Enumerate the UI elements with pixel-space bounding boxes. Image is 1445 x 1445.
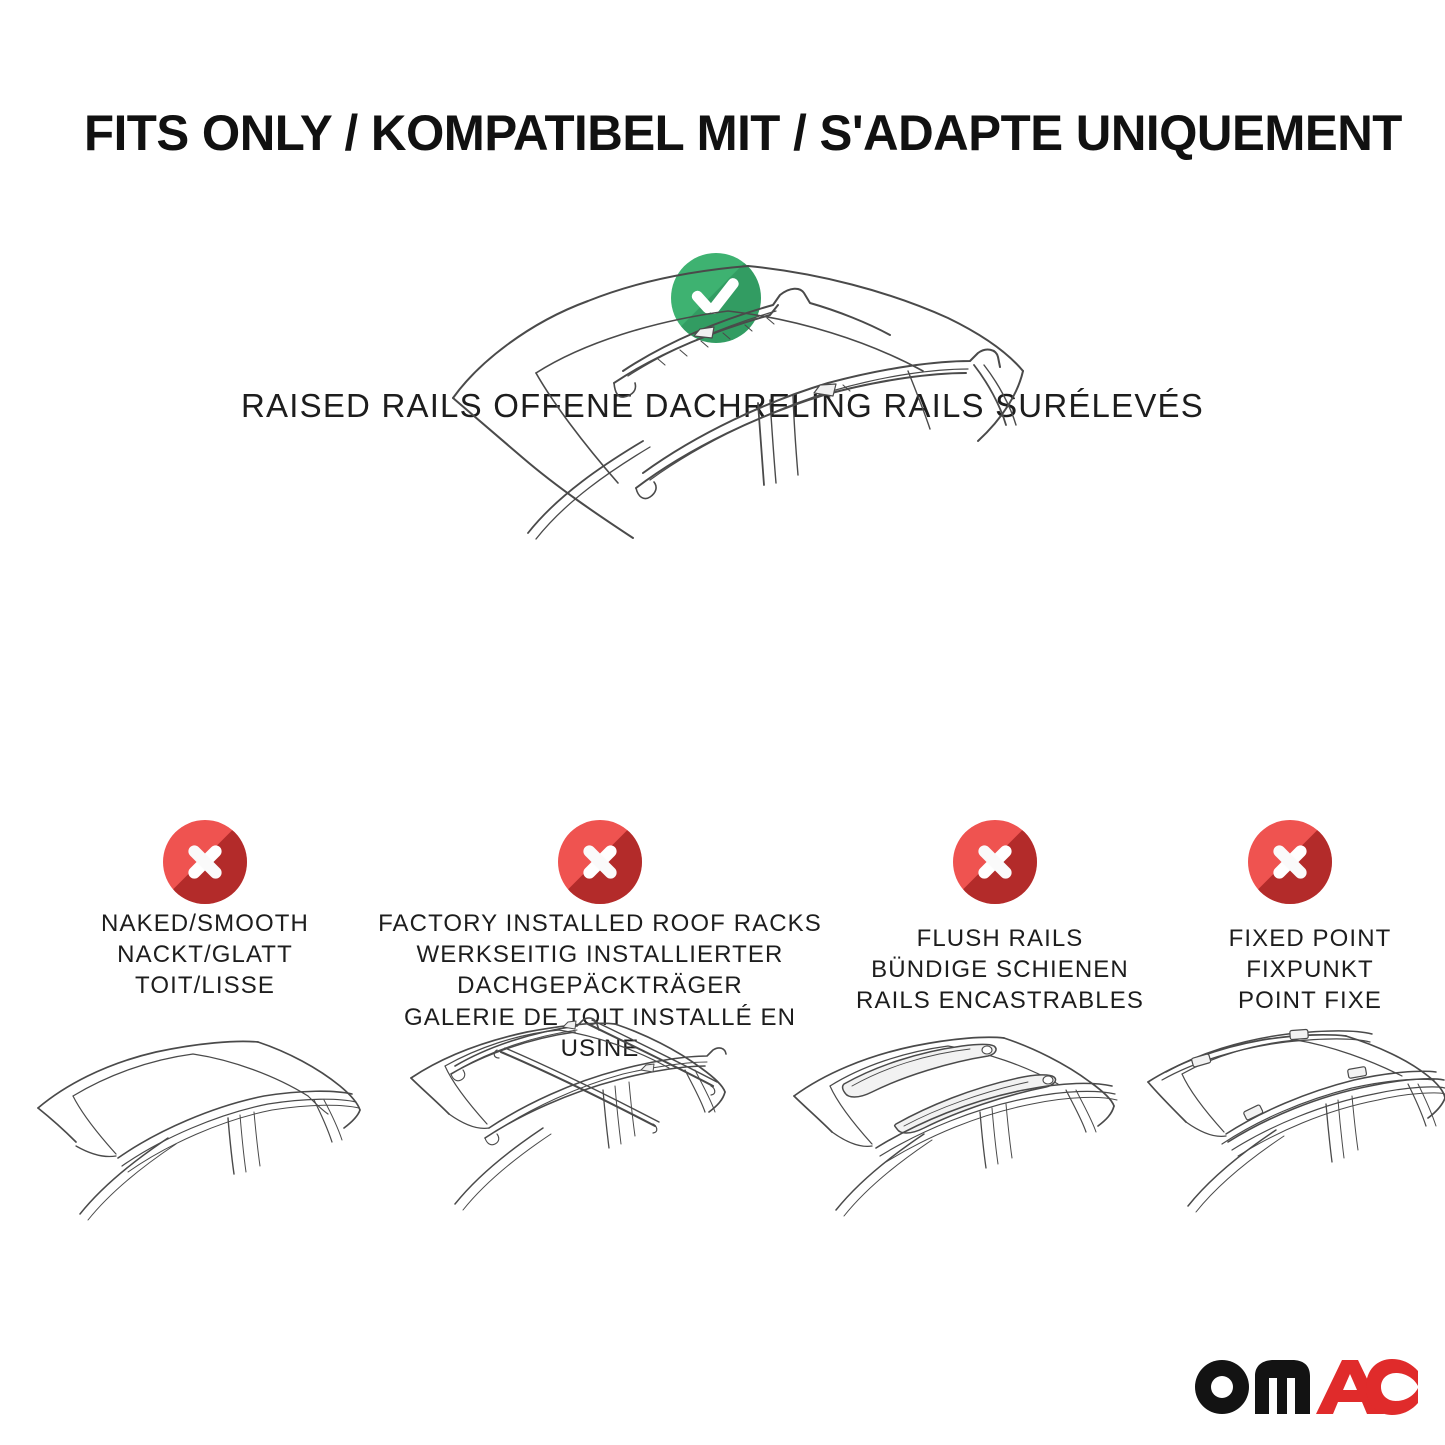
- car-roof-with-raised-rails-illustration: [418, 243, 1048, 543]
- incompatible-label-flush-rails: FLUSH RAILS BÜNDIGE SCHIENEN RAILS ENCAS…: [830, 923, 1170, 1017]
- x-glyph: [578, 840, 622, 884]
- incompatible-label-fixed-point: FIXED POINT FIXPUNKT POINT FIXE: [1160, 923, 1445, 1017]
- incompatible-label-naked-smooth: NAKED/SMOOTH NACKT/GLATT TOIT/LISSE: [30, 908, 380, 1002]
- car-roof-fixed-point-illustration: [1140, 1018, 1445, 1238]
- x-circle-icon-flush-rails: [953, 820, 1037, 904]
- x-circle-icon-naked-smooth: [163, 820, 247, 904]
- omac-logo: [1192, 1352, 1418, 1418]
- car-roof-flush-rails-illustration: [772, 1018, 1132, 1238]
- logo-letter-c: [1366, 1359, 1418, 1415]
- x-glyph: [1268, 840, 1312, 884]
- x-glyph: [973, 840, 1017, 884]
- x-circle-icon-factory-roof-racks: [558, 820, 642, 904]
- car-roof-factory-roof-racks-illustration: [393, 1008, 753, 1240]
- page-title: FITS ONLY / KOMPATIBEL MIT / S'ADAPTE UN…: [84, 104, 1365, 162]
- x-glyph: [183, 840, 227, 884]
- car-roof-naked-smooth-illustration: [18, 1018, 368, 1238]
- x-circle-icon-fixed-point: [1248, 820, 1332, 904]
- logo-letter-m: [1255, 1360, 1310, 1414]
